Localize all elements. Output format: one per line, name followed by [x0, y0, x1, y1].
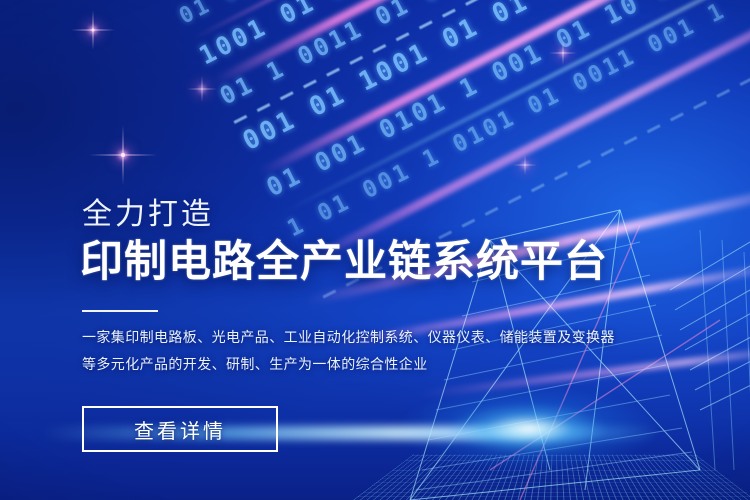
description-line: 等多元化产品的开发、研制、生产为一体的综合性企业	[82, 351, 642, 378]
hero-headline: 印制电路全产业链系统平台	[80, 236, 608, 288]
view-details-button[interactable]: 查看详情	[82, 406, 278, 452]
description-line: 一家集印制电路板、光电产品、工业自动化控制系统、仪器仪表、储能装置及变换器	[82, 324, 642, 351]
hero-content: 全力打造 印制电路全产业链系统平台 一家集印制电路板、光电产品、工业自动化控制系…	[82, 0, 682, 500]
hero-description: 一家集印制电路板、光电产品、工业自动化控制系统、仪器仪表、储能装置及变换器 等多…	[82, 324, 642, 378]
hero-banner: 01 001 01 1001 01 0011 10 01 1 1001 01 0…	[0, 0, 750, 500]
divider-rule	[82, 310, 158, 312]
hero-eyebrow: 全力打造	[82, 198, 214, 232]
